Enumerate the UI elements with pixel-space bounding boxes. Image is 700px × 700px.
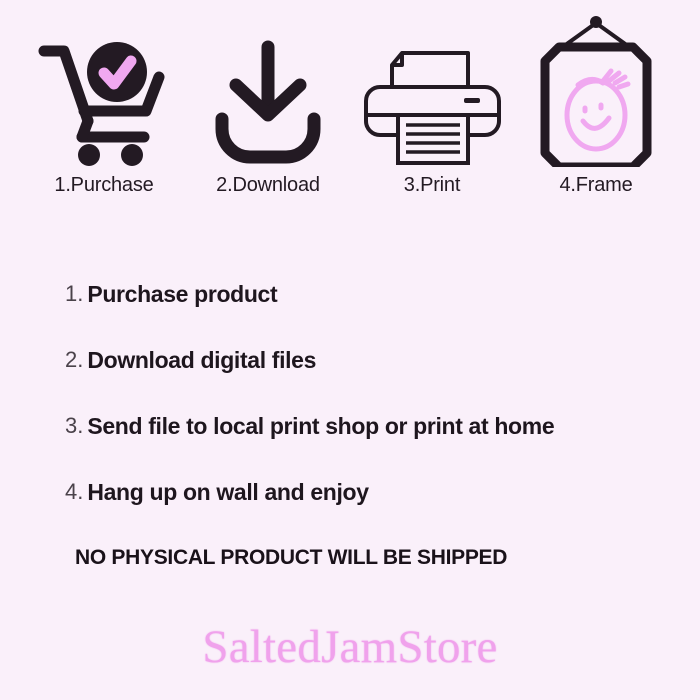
list-item-number: 2. xyxy=(65,347,83,373)
list-item: 2. Download digital files xyxy=(65,347,685,413)
list-item-text: Purchase product xyxy=(87,281,277,308)
disclaimer-text: NO PHYSICAL PRODUCT WILL BE SHIPPED xyxy=(75,546,507,570)
frame-nail-icon xyxy=(590,16,602,28)
step-print-label: 3.Print xyxy=(404,174,460,197)
steps-row: 1.Purchase 2.Download xyxy=(0,22,700,197)
list-item-number: 4. xyxy=(65,479,83,505)
step-frame-icon-wrap xyxy=(533,37,659,167)
step-print-icon-wrap xyxy=(360,37,505,167)
download-arrow-icon xyxy=(208,37,328,167)
printer-slot-icon xyxy=(464,98,480,103)
step-purchase-icon-wrap xyxy=(34,37,174,167)
list-item-text: Hang up on wall and enjoy xyxy=(87,479,368,506)
printer-output-paper xyxy=(398,115,468,163)
step-download-label: 2.Download xyxy=(216,174,320,197)
instruction-list: 1. Purchase product 2. Download digital … xyxy=(65,281,685,545)
list-item: 4. Hang up on wall and enjoy xyxy=(65,479,685,545)
step-download-icon-wrap xyxy=(208,37,328,167)
shopping-cart-check-icon xyxy=(34,37,174,167)
list-item-text: Download digital files xyxy=(87,347,316,374)
step-frame: 4.Frame xyxy=(520,37,672,197)
step-purchase: 1.Purchase xyxy=(28,37,180,197)
instruction-graphic: 1.Purchase 2.Download xyxy=(0,0,700,700)
picture-frame-smiley-icon xyxy=(533,15,659,167)
step-print: 3.Print xyxy=(356,37,508,197)
list-item-number: 1. xyxy=(65,281,83,307)
printer-icon xyxy=(360,37,505,167)
step-purchase-label: 1.Purchase xyxy=(54,174,153,197)
list-item: 1. Purchase product xyxy=(65,281,685,347)
list-item: 3. Send file to local print shop or prin… xyxy=(65,413,685,479)
brand-wordmark: SaltedJamStore xyxy=(0,620,700,674)
step-download: 2.Download xyxy=(192,37,344,197)
cart-wheel-left-icon xyxy=(78,144,100,166)
cart-wheel-right-icon xyxy=(121,144,143,166)
step-frame-label: 4.Frame xyxy=(559,174,632,197)
list-item-number: 3. xyxy=(65,413,83,439)
list-item-text: Send file to local print shop or print a… xyxy=(87,413,554,440)
